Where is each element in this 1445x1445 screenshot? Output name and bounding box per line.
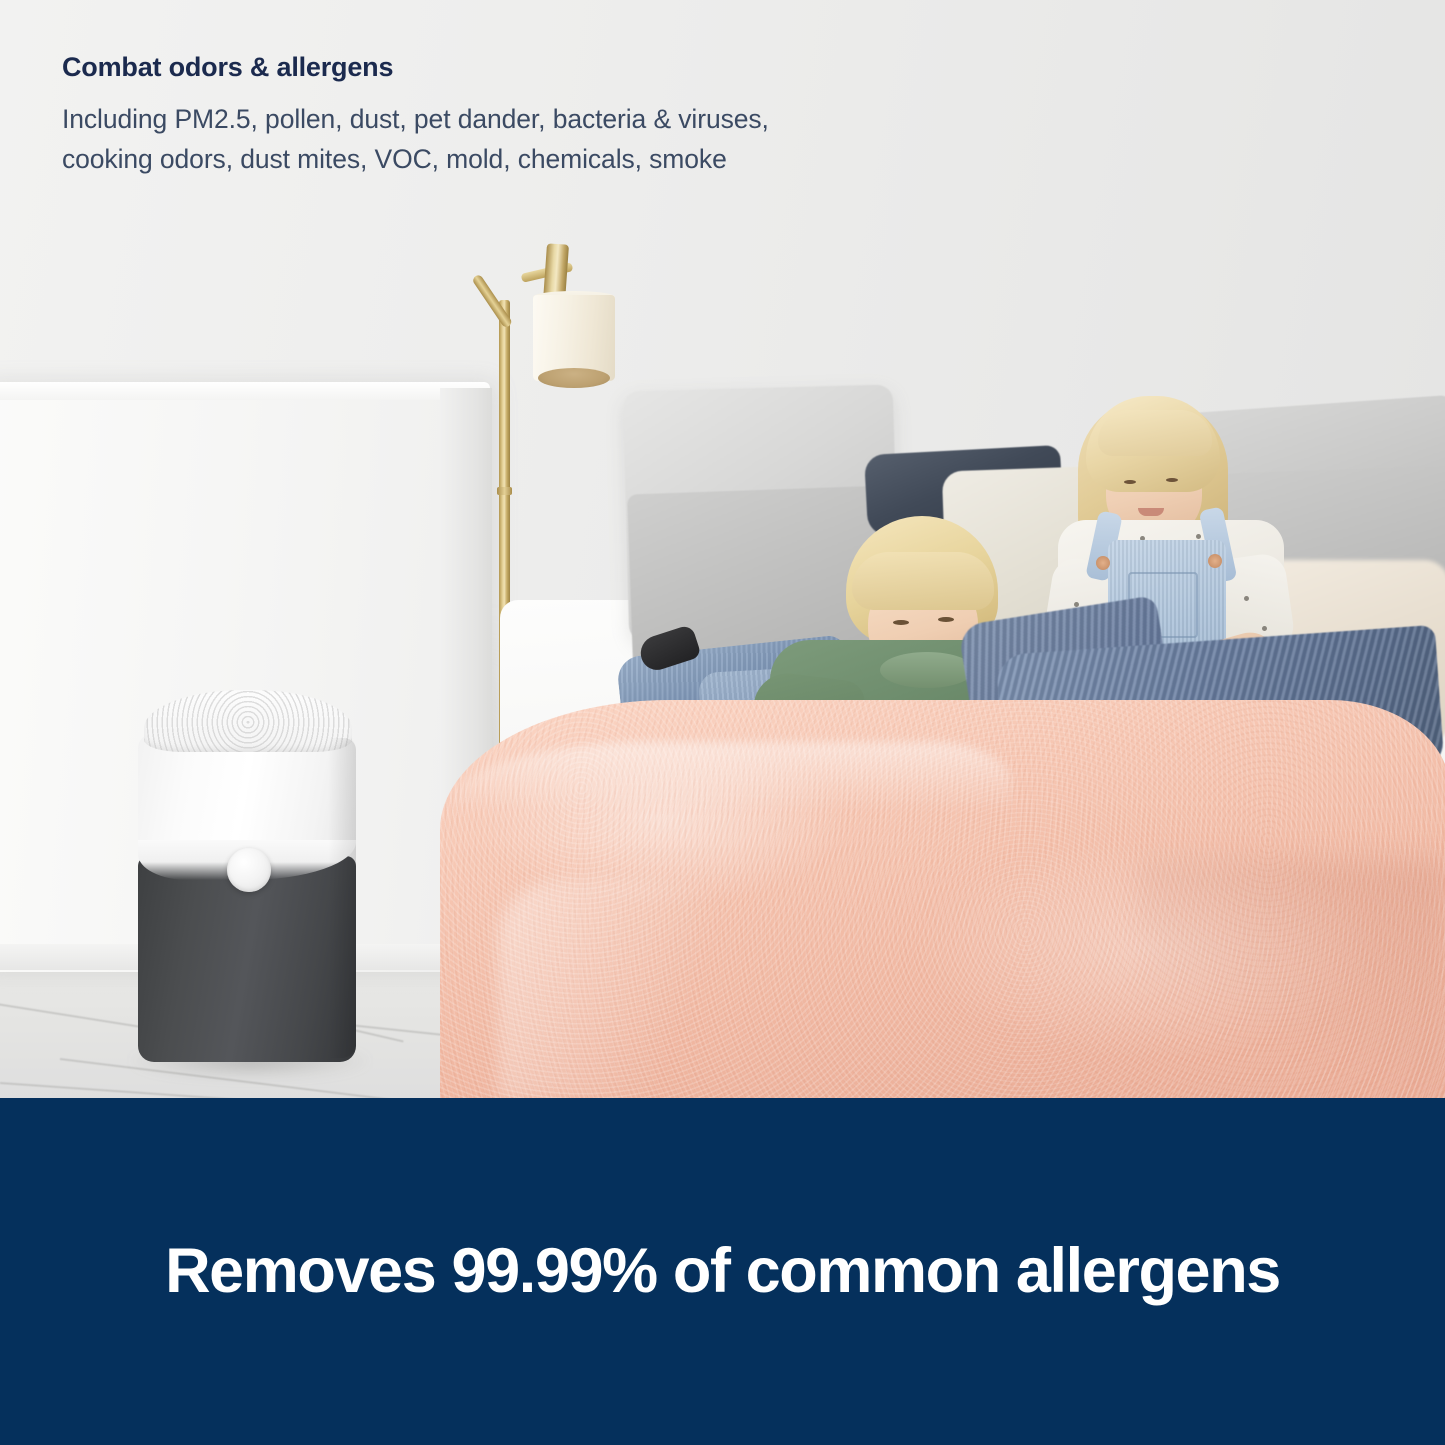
air-purifier — [136, 690, 358, 1062]
boy-collar — [880, 652, 974, 688]
feature-description-line-2: cooking odors, dust mites, VOC, mold, ch… — [62, 139, 1042, 179]
feature-copy-block: Combat odors & allergens Including PM2.5… — [62, 52, 1042, 180]
bottom-claim-banner: Removes 99.99% of common allergens — [0, 1098, 1445, 1445]
feature-description-line-1: Including PM2.5, pollen, dust, pet dande… — [62, 99, 1042, 139]
boy-eye-right — [938, 617, 954, 622]
feature-description: Including PM2.5, pollen, dust, pet dande… — [62, 99, 1042, 180]
girl-hair-fringe — [1098, 410, 1212, 456]
girl-buckle-left — [1096, 556, 1110, 570]
purifier-power-button[interactable] — [227, 848, 271, 892]
girl-buckle-right — [1208, 554, 1222, 568]
lamp-shade-interior — [538, 368, 610, 388]
girl-eye-right — [1166, 478, 1178, 482]
purifier-top-vent-grille — [144, 690, 352, 752]
purifier-side-shading — [328, 738, 356, 1058]
girl-mouth — [1138, 508, 1164, 516]
headboard-top-edge — [0, 382, 490, 400]
girl-eye-left — [1124, 480, 1136, 484]
product-feature-page: Combat odors & allergens Including PM2.5… — [0, 0, 1445, 1445]
page-title: Combat odors & allergens — [62, 52, 1042, 83]
lamp-pole-joint — [497, 487, 512, 495]
boy-eye-left — [893, 620, 909, 625]
boy-hair-fringe — [852, 552, 994, 610]
pink-blanket-highlight — [452, 742, 1012, 812]
pink-blanket-shadow — [1140, 860, 1445, 1098]
claim-text: Removes 99.99% of common allergens — [165, 1237, 1280, 1306]
